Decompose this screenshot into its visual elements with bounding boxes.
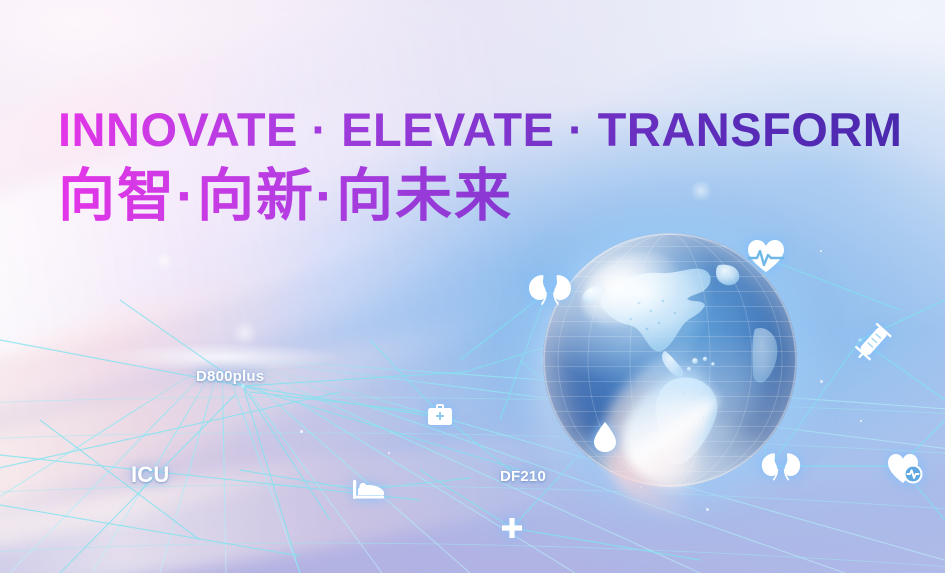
- medical-kit-icon[interactable]: [427, 403, 453, 427]
- sparkle: [300, 430, 303, 433]
- heart-monitor-icon[interactable]: [886, 452, 924, 486]
- bokeh-dot: [155, 252, 173, 270]
- water-drop-icon[interactable]: [592, 421, 618, 453]
- product-label-d800plus: D800plus: [196, 368, 264, 385]
- headline-english: INNOVATE · ELEVATE · TRANSFORM: [58, 101, 902, 158]
- hero-banner: D800plus ICU DF210 INNOVATE · ELEVATE · …: [0, 0, 945, 573]
- medical-cross-icon[interactable]: [501, 517, 523, 539]
- kidneys-icon-lower[interactable]: [760, 450, 802, 482]
- hospital-bed-icon[interactable]: [352, 478, 386, 500]
- bokeh-dot: [232, 320, 258, 346]
- heart-pulse-icon[interactable]: [746, 238, 786, 274]
- headline-chinese: 向智·向新·向未来: [58, 164, 902, 228]
- headline-block: INNOVATE · ELEVATE · TRANSFORM 向智·向新·向未来: [58, 101, 902, 228]
- kidneys-icon[interactable]: [527, 272, 573, 306]
- product-label-df210: DF210: [500, 468, 546, 485]
- product-label-icu: ICU: [131, 462, 170, 488]
- sparkle: [820, 250, 822, 252]
- syringe-icon[interactable]: [851, 320, 895, 364]
- sparkle: [388, 452, 390, 454]
